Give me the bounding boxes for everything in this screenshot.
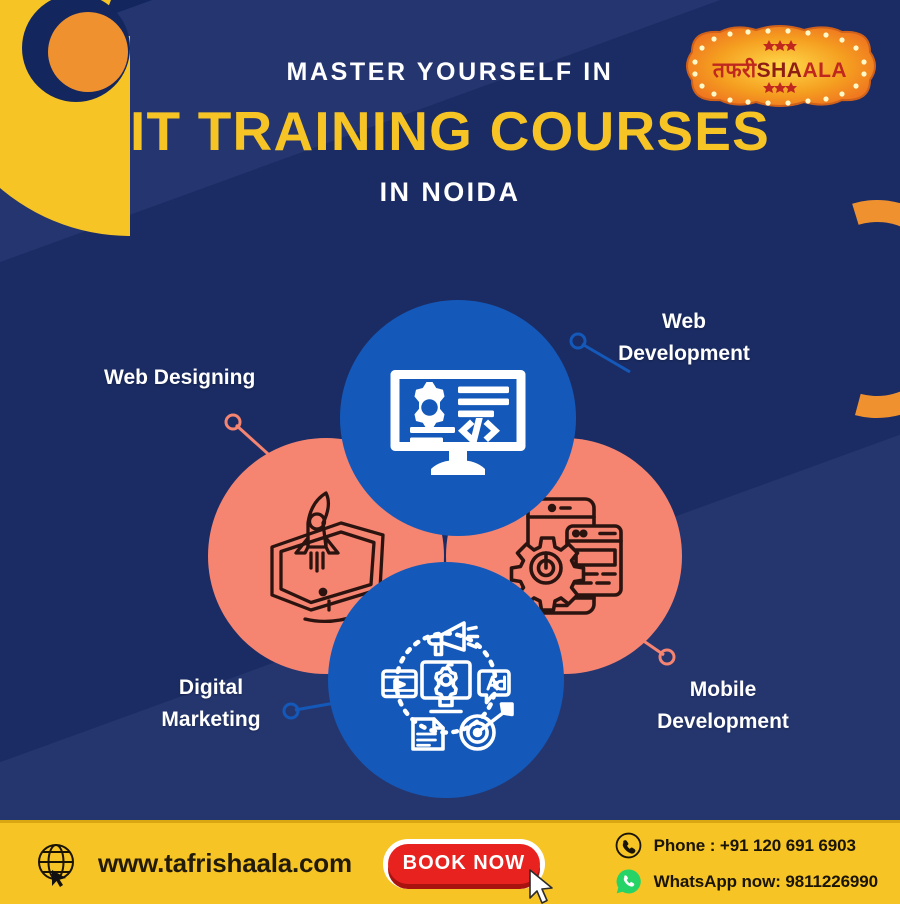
marquee-sign-icon [674, 22, 886, 110]
book-now-label: BOOK NOW [403, 852, 525, 875]
connector-lines [0, 0, 900, 904]
label-digital-marketing-line2: Marketing [146, 704, 276, 736]
whatsapp-text: WhatsApp now: 9811226990 [654, 872, 878, 892]
contact-block: Phone : +91 120 691 6903 WhatsApp now: 9… [615, 832, 878, 895]
whatsapp-row[interactable]: WhatsApp now: 9811226990 [615, 868, 878, 895]
brand-logo[interactable]: तफरीSHAALA [674, 22, 886, 110]
book-now-button[interactable]: BOOK NOW [388, 844, 540, 884]
label-mobile-development-line1: Mobile [634, 674, 812, 706]
label-mobile-development-line2: Development [634, 706, 812, 738]
label-web-development: Web Development [604, 306, 764, 369]
promo-poster: MASTER YOURSELF IN IT TRAINING COURSES I… [0, 0, 900, 904]
whatsapp-icon [615, 868, 642, 895]
label-digital-marketing-line1: Digital [146, 672, 276, 704]
cursor-pointer-icon [526, 868, 558, 904]
website-url[interactable]: www.tafrishaala.com [98, 848, 352, 879]
footer-bar: www.tafrishaala.com BOOK NOW Phone : +91… [0, 820, 900, 904]
label-mobile-development: Mobile Development [634, 674, 812, 737]
globe-icon [34, 840, 82, 888]
phone-icon [615, 832, 642, 859]
phone-row[interactable]: Phone : +91 120 691 6903 [615, 832, 878, 859]
label-web-development-line1: Web [604, 306, 764, 338]
label-web-designing: Web Designing [104, 362, 255, 394]
phone-text: Phone : +91 120 691 6903 [654, 836, 856, 856]
label-digital-marketing: Digital Marketing [146, 672, 276, 735]
label-web-development-line2: Development [604, 338, 764, 370]
website-block[interactable]: www.tafrishaala.com [34, 840, 352, 888]
